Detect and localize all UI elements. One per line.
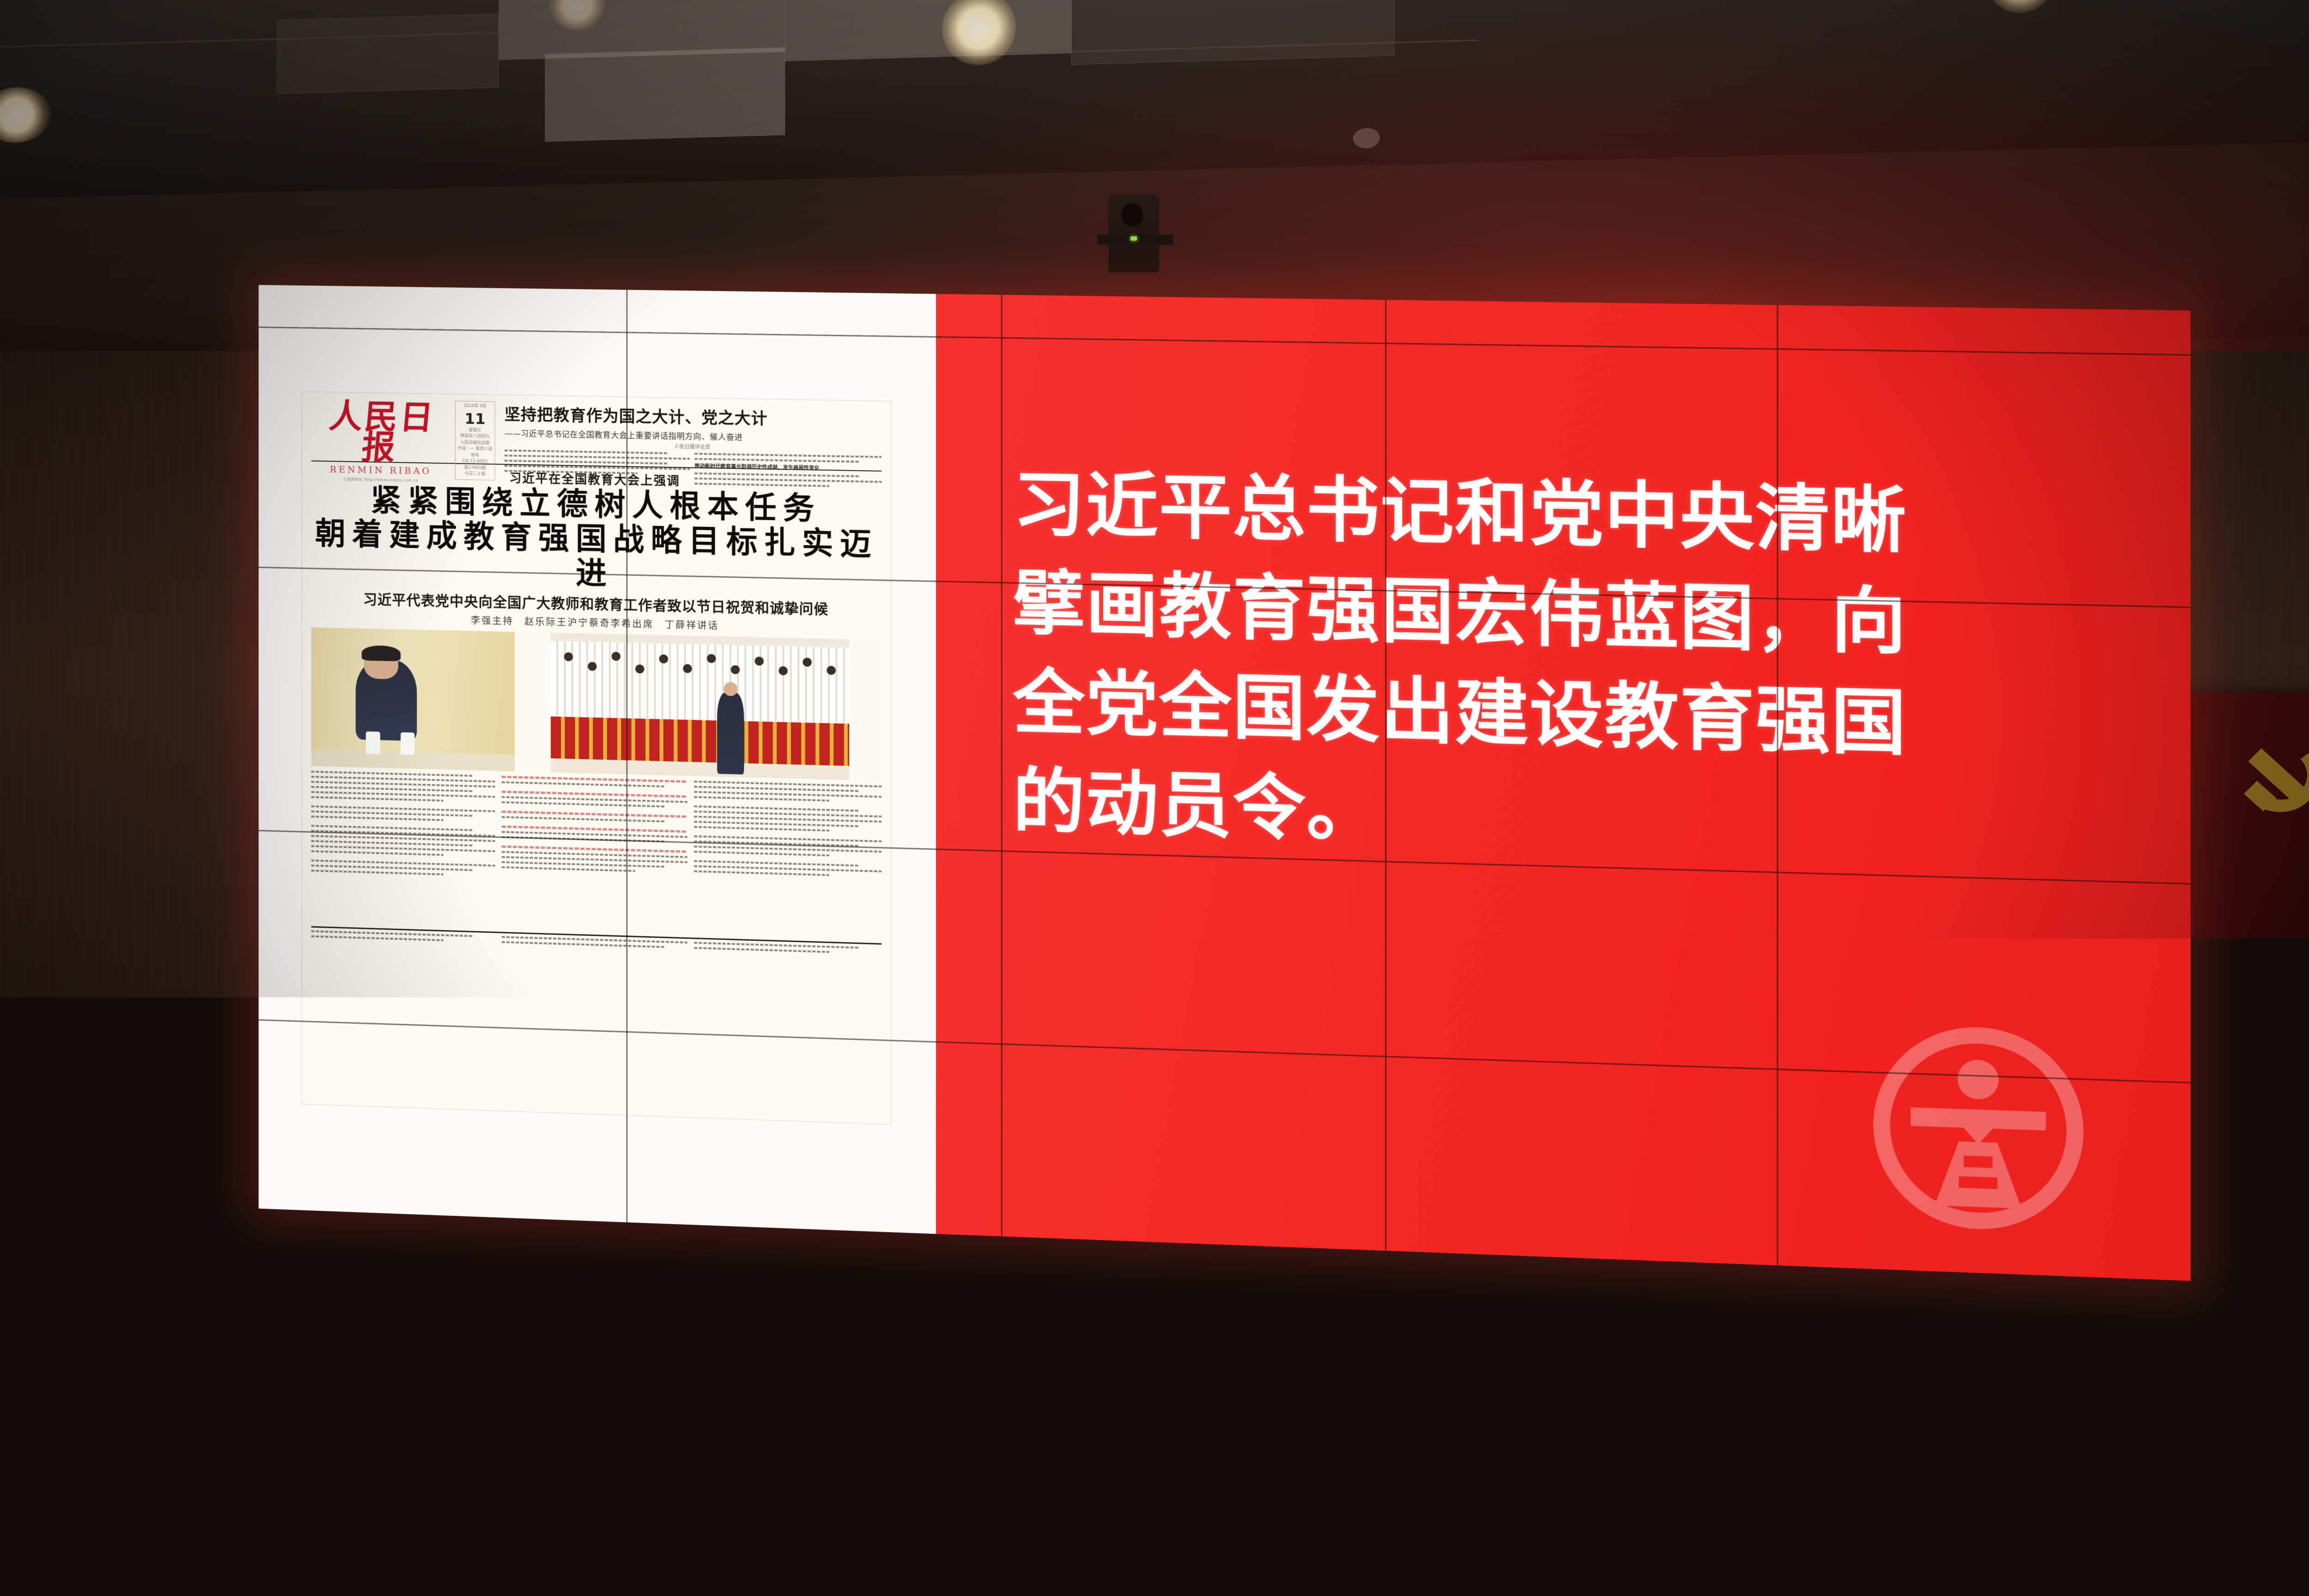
auditorium-photo-scene: 人民日报 RENMIN RIBAO 人民网网址 http://www.peopl… [0,0,2309,1596]
photo-xi-speaking [311,627,515,771]
ceiling-panel [277,14,499,94]
videowall-left-white-area: 人民日报 RENMIN RIBAO 人民网网址 http://www.peopl… [259,285,936,1234]
newspaper-front-page: 人民日报 RENMIN RIBAO 人民网网址 http://www.peopl… [302,392,891,1124]
newspaper-column [311,771,495,929]
newspaper-column [694,780,882,940]
photo-figure-hair [362,645,401,661]
photo-caption-right [853,639,882,780]
wall-socket [1570,1279,1586,1303]
datebox-pages: 今日二十版 [456,471,494,478]
datebox-lunar: 甲辰年八月初九 [456,433,494,440]
newspaper-masthead: 人民日报 RENMIN RIBAO 人民网网址 http://www.peopl… [311,399,450,484]
ceiling-camera [1108,194,1159,272]
datebox-weekday: 星期三 [456,427,494,434]
newspaper-title: 人民日报 [308,400,453,464]
downlight [0,86,51,144]
camera-status-led [1130,236,1137,241]
photo-group-greeting [550,633,849,780]
ceiling-panel [1071,0,1395,65]
datebox-year-month: 2024年 9月 [456,403,494,410]
photo-caption-left [519,632,547,772]
newspaper-lead-block: 习近平在全国教育大会上强调 紧紧围绕立德树人根本任务 朝着建成教育强国战略目标扎… [311,465,882,635]
ceiling-speaker [1353,128,1380,149]
slide-text-block: 习近平总书记和党中央清晰 擘画教育强国宏伟蓝图，向 全党全国发出建设教育强国 的… [1013,455,2169,883]
datebox-publisher: 人民日报社出版 [456,440,494,447]
photo-teacup [400,732,415,755]
lead-headline-line2: 朝着建成教育强国战略目标扎实迈进 [311,516,882,597]
datebox-issue: 第27665期 [456,465,494,472]
photo-teacup [366,731,380,754]
hammer-and-sickle-icon [2216,729,2309,837]
camera-lens-icon [1122,203,1143,227]
datebox-line2: CN 11-0065 [456,459,494,465]
photo-chair-row [550,716,849,766]
led-video-wall[interactable]: 人民日报 RENMIN RIBAO 人民网网址 http://www.peopl… [259,285,2191,1281]
top-headline: 坚持把教育作为国之大计、党之大计 [504,402,882,431]
newspaper-masthead-row: 人民日报 RENMIN RIBAO 人民网网址 http://www.peopl… [311,399,882,468]
top-sidehead: 推动新时代教育事业取得历史性成就、发生格局性变化 [695,463,882,473]
datebox-day: 11 [456,411,494,427]
wall-socket [787,1295,803,1319]
videowall-right-red-slide: 习近平总书记和党中央清晰 擘画教育强国宏伟蓝图，向 全党全国发出建设教育强国 的… [936,294,2191,1281]
newspaper-photo-row [311,627,882,780]
photo-figure-standing [717,692,744,774]
newspaper-column [502,775,687,934]
photo-crowd-heads [550,638,849,721]
newspaper-body-columns [311,771,882,940]
newspaper-datebox: 2024年 9月 11 星期三 甲辰年八月初九 人民日报社出版 代号：一 第四八… [455,401,495,480]
ceiling-panel [545,48,785,142]
photo-figure-head [724,682,737,696]
downlight [1986,0,2055,14]
education-seal-logo-icon [1858,1009,2099,1248]
datebox-line1: 代号：一 第四八届等号 [456,446,494,459]
